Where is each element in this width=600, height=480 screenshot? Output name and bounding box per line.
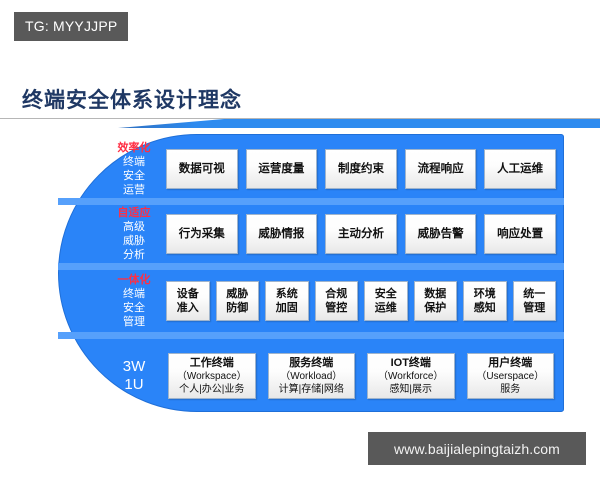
- capability-cell[interactable]: 行为采集: [166, 214, 238, 254]
- band-label-endpoints: 3W 1U: [108, 358, 160, 394]
- page-title: 终端安全体系设计理念: [22, 84, 242, 114]
- endpoint-english: （Workspace）: [177, 370, 247, 383]
- endpoint-title: 用户终端: [488, 357, 532, 370]
- endpoint-english: （Workload）: [280, 370, 342, 383]
- cell-line-1: 威胁: [226, 287, 248, 301]
- cell-line-2: 管控: [325, 301, 347, 315]
- capability-cell[interactable]: 主动分析: [325, 214, 397, 254]
- endpoint-detail: 个人|办公|业务: [179, 383, 244, 396]
- endpoint-detail: 服务: [500, 383, 520, 396]
- cell-line-1: 系统: [276, 287, 298, 301]
- band-cells-analysis: 行为采集 威胁情报 主动分析 威胁告警 响应处置: [160, 214, 564, 254]
- cell-line-1: 环境: [474, 287, 496, 301]
- band-management: 一体化 终端 安全 管理 设备 准入 威胁 防御 系统 加固: [58, 270, 564, 332]
- endpoint-title: 工作终端: [190, 357, 234, 370]
- cell-line-2: 管理: [523, 301, 545, 315]
- band-subline: 管理: [108, 315, 160, 329]
- band-cells-endpoints: 工作终端 （Workspace） 个人|办公|业务 服务终端 （Workload…: [160, 353, 564, 399]
- endpoint-english: （Workforce）: [378, 370, 443, 383]
- capability-cell[interactable]: 制度约束: [325, 149, 397, 189]
- band-label-management: 一体化 终端 安全 管理: [108, 273, 160, 329]
- capability-cell[interactable]: 威胁情报: [246, 214, 318, 254]
- capability-cell[interactable]: 环境 感知: [463, 281, 507, 321]
- capability-cell[interactable]: 设备 准入: [166, 281, 210, 321]
- capability-cell[interactable]: 数据可视: [166, 149, 238, 189]
- band-subline: 高级: [108, 220, 160, 234]
- capability-cell[interactable]: 人工运维: [484, 149, 556, 189]
- capability-cell[interactable]: 安全 运维: [364, 281, 408, 321]
- capability-cell[interactable]: 数据 保护: [414, 281, 458, 321]
- capability-cell[interactable]: 威胁告警: [405, 214, 477, 254]
- cell-line-1: 合规: [325, 287, 347, 301]
- cell-line-1: 设备: [177, 287, 199, 301]
- cell-line-2: 准入: [177, 301, 199, 315]
- band-subline: 1U: [108, 376, 160, 394]
- cell-line-1: 统一: [523, 287, 545, 301]
- capability-cell[interactable]: 运营度量: [246, 149, 318, 189]
- endpoint-cell[interactable]: 工作终端 （Workspace） 个人|办公|业务: [168, 353, 256, 399]
- cell-line-2: 加固: [276, 301, 298, 315]
- capability-cell[interactable]: 响应处置: [484, 214, 556, 254]
- endpoint-english: （Userspace）: [476, 370, 544, 383]
- endpoint-cell[interactable]: 服务终端 （Workload） 计算|存储|网络: [268, 353, 356, 399]
- capability-cell[interactable]: 统一 管理: [513, 281, 557, 321]
- band-cells-operations: 数据可视 运营度量 制度约束 流程响应 人工运维: [160, 149, 564, 189]
- capability-cell[interactable]: 威胁 防御: [216, 281, 260, 321]
- cell-line-1: 安全: [375, 287, 397, 301]
- capability-cell[interactable]: 系统 加固: [265, 281, 309, 321]
- cell-line-2: 运维: [375, 301, 397, 315]
- band-kicker-analysis: 自适应: [108, 206, 160, 220]
- cell-line-2: 防御: [226, 301, 248, 315]
- band-kicker-management: 一体化: [108, 273, 160, 287]
- diagram-bands: 效率化 终端 安全 运营 数据可视 运营度量 制度约束 流程响应 人工运维 自适…: [58, 134, 564, 412]
- band-subline: 分析: [108, 248, 160, 262]
- band-operations: 效率化 终端 安全 运营 数据可视 运营度量 制度约束 流程响应 人工运维: [58, 140, 564, 198]
- band-subline: 威胁: [108, 234, 160, 248]
- endpoint-title: IOT终端: [391, 357, 431, 370]
- band-subline: 终端: [108, 155, 160, 169]
- title-accent-bar: [118, 119, 600, 128]
- capability-cell[interactable]: 流程响应: [405, 149, 477, 189]
- endpoint-detail: 感知|展示: [389, 383, 432, 396]
- band-subline: 终端: [108, 287, 160, 301]
- band-analysis: 自适应 高级 威胁 分析 行为采集 威胁情报 主动分析 威胁告警 响应处置: [58, 205, 564, 263]
- band-cells-management: 设备 准入 威胁 防御 系统 加固 合规 管控 安全 运维: [160, 281, 564, 321]
- site-watermark: www.baijialepingtaizh.com: [368, 432, 586, 465]
- endpoint-cell[interactable]: IOT终端 （Workforce） 感知|展示: [367, 353, 455, 399]
- cell-line-2: 保护: [424, 301, 446, 315]
- endpoint-cell[interactable]: 用户终端 （Userspace） 服务: [467, 353, 555, 399]
- band-label-operations: 效率化 终端 安全 运营: [108, 141, 160, 197]
- band-endpoints: 3W 1U 工作终端 （Workspace） 个人|办公|业务 服务终端 （Wo…: [58, 347, 564, 405]
- cell-line-1: 数据: [424, 287, 446, 301]
- band-kicker-operations: 效率化: [108, 141, 160, 155]
- endpoint-title: 服务终端: [289, 357, 333, 370]
- band-subline: 安全: [108, 169, 160, 183]
- band-subline: 运营: [108, 183, 160, 197]
- band-label-analysis: 自适应 高级 威胁 分析: [108, 206, 160, 262]
- band-subline: 安全: [108, 301, 160, 315]
- tg-watermark-badge: TG: MYYJJPP: [14, 12, 128, 41]
- cell-line-2: 感知: [474, 301, 496, 315]
- band-subline: 3W: [108, 358, 160, 376]
- capability-cell[interactable]: 合规 管控: [315, 281, 359, 321]
- security-architecture-diagram: 效率化 终端 安全 运营 数据可视 运营度量 制度约束 流程响应 人工运维 自适…: [58, 134, 564, 412]
- endpoint-detail: 计算|存储|网络: [279, 383, 344, 396]
- title-divider-line: [0, 118, 600, 119]
